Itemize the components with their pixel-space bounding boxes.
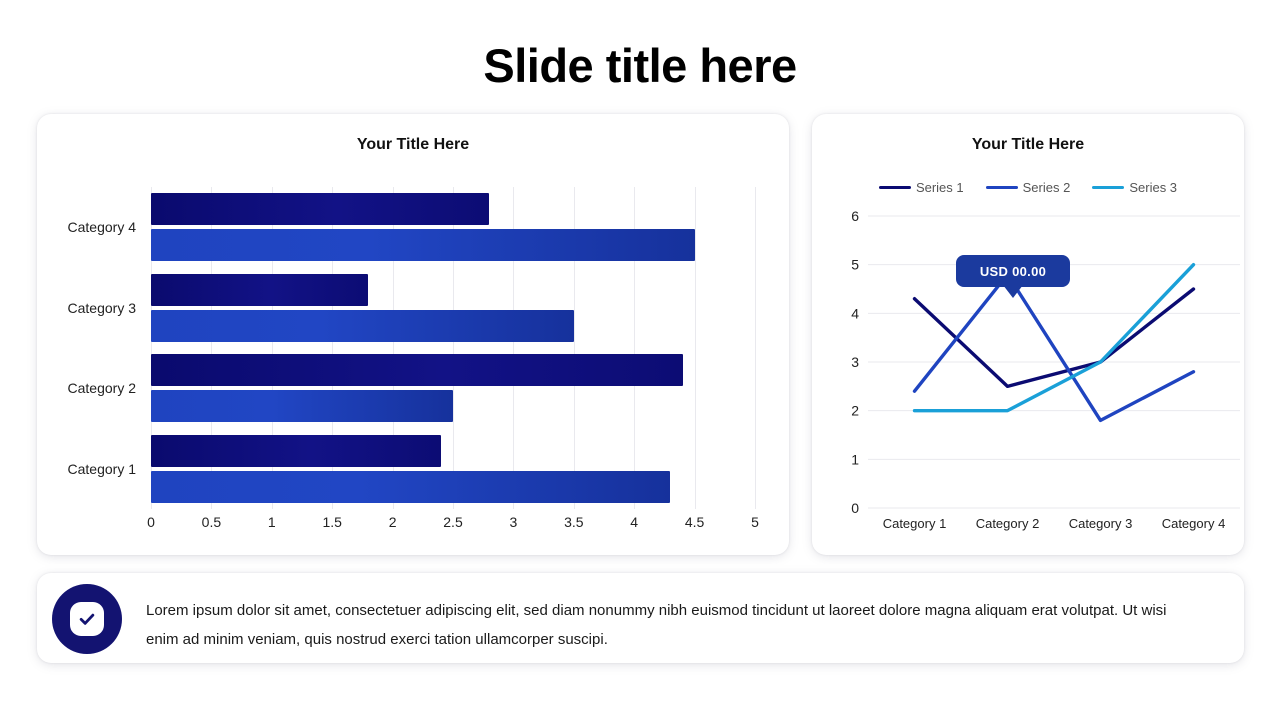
line-series-2: [915, 274, 1194, 420]
bar-group: [151, 268, 755, 349]
check-circle-icon: [52, 584, 122, 654]
bar-category-label: Category 4: [37, 187, 145, 268]
bar-series-1: [151, 274, 368, 306]
bar-x-tick: 5: [751, 514, 759, 530]
bar-category-label: Category 3: [37, 268, 145, 349]
bar-x-tick: 1: [268, 514, 276, 530]
legend-swatch-icon: [879, 186, 911, 189]
bar-chart-category-labels: Category 4Category 3Category 2Category 1: [37, 187, 145, 509]
line-chart-card: Your Title Here Series 1Series 2Series 3…: [812, 114, 1244, 555]
bar-series-2: [151, 390, 453, 422]
line-y-tick: 4: [851, 305, 859, 321]
legend-label: Series 2: [1023, 180, 1071, 195]
line-y-tick: 2: [851, 403, 859, 419]
legend-label: Series 3: [1129, 180, 1177, 195]
bar-chart-x-axis: 00.511.522.533.544.55: [151, 514, 755, 536]
legend-item-series-3[interactable]: Series 3: [1092, 180, 1177, 195]
legend-item-series-2[interactable]: Series 2: [986, 180, 1071, 195]
bar-category-label: Category 1: [37, 429, 145, 510]
line-y-tick: 6: [851, 210, 859, 224]
bar-gridline: [755, 187, 756, 509]
bar-chart-card: Your Title Here Category 4Category 3Cate…: [37, 114, 789, 555]
bar-chart-title: Your Title Here: [37, 136, 789, 154]
bar-chart-plot: [151, 187, 755, 509]
bar-chart-rows: [151, 187, 755, 509]
bar-group: [151, 187, 755, 268]
line-y-tick: 1: [851, 451, 859, 467]
bar-series-1: [151, 354, 683, 386]
bar-group: [151, 348, 755, 429]
bar-x-tick: 3.5: [564, 514, 583, 530]
line-x-tick: Category 1: [883, 516, 947, 531]
legend-item-series-1[interactable]: Series 1: [879, 180, 964, 195]
bar-x-tick: 0: [147, 514, 155, 530]
line-chart-x-axis: Category 1Category 2Category 3Category 4: [838, 516, 1244, 538]
line-x-tick: Category 2: [976, 516, 1040, 531]
bar-x-tick: 4.5: [685, 514, 704, 530]
bar-x-tick: 3: [509, 514, 517, 530]
bar-series-1: [151, 193, 489, 225]
legend-label: Series 1: [916, 180, 964, 195]
bar-series-2: [151, 471, 670, 503]
line-chart-legend: Series 1Series 2Series 3: [812, 180, 1244, 195]
bar-series-2: [151, 310, 574, 342]
bar-x-tick: 2: [389, 514, 397, 530]
slide: Slide title here Your Title Here Categor…: [0, 0, 1280, 720]
line-y-tick: 0: [851, 500, 859, 514]
bar-series-2: [151, 229, 695, 261]
bar-group: [151, 429, 755, 510]
line-y-tick: 5: [851, 257, 859, 273]
bar-x-tick: 0.5: [202, 514, 221, 530]
bar-series-1: [151, 435, 441, 467]
value-tooltip: USD 00.00: [956, 255, 1070, 287]
page-title: Slide title here: [0, 38, 1280, 93]
bar-x-tick: 2.5: [443, 514, 462, 530]
legend-swatch-icon: [1092, 186, 1124, 189]
note-text: Lorem ipsum dolor sit amet, consectetuer…: [146, 596, 1196, 654]
line-x-tick: Category 3: [1069, 516, 1133, 531]
bar-x-tick: 1.5: [322, 514, 341, 530]
legend-swatch-icon: [986, 186, 1018, 189]
line-y-tick: 3: [851, 354, 859, 370]
line-x-tick: Category 4: [1162, 516, 1226, 531]
bar-category-label: Category 2: [37, 348, 145, 429]
bar-x-tick: 4: [630, 514, 638, 530]
check-icon: [70, 602, 104, 636]
line-chart-title: Your Title Here: [812, 136, 1244, 154]
